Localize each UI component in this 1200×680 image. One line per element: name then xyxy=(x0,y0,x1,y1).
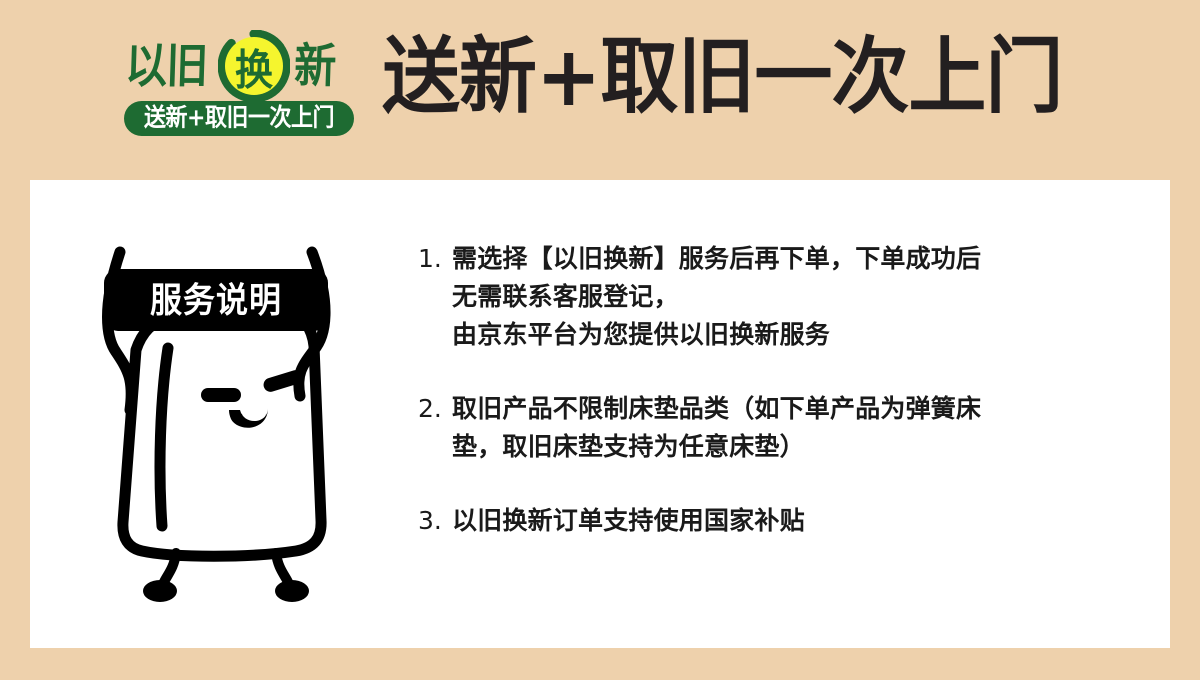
list-item-number: 3. xyxy=(418,502,452,540)
list-item-body: 需选择【以旧换新】服务后再下单，下单成功后 无需联系客服登记， 由京东平台为您提… xyxy=(452,240,1128,354)
illustration-area: 服务说明 xyxy=(90,220,370,620)
page-title: 送新+取旧一次上门 xyxy=(382,36,1062,119)
list-item-body: 取旧产品不限制床垫品类（如下单产品为弹簧床 垫，取旧床垫支持为任意床垫） xyxy=(452,390,1128,466)
logo-word-left: 以旧 xyxy=(125,43,208,90)
service-notes-list: 1. 需选择【以旧换新】服务后再下单，下单成功后 无需联系客服登记， 由京东平台… xyxy=(418,240,1128,540)
list-item-line: 需选择【以旧换新】服务后再下单，下单成功后 xyxy=(452,240,1128,278)
list-item-number: 2. xyxy=(418,390,452,428)
list-item-line: 垫，取旧床垫支持为任意床垫） xyxy=(452,428,1128,466)
logo-word-right: 新 xyxy=(294,43,336,90)
logo-subtitle-text: 送新+取旧一次上门 xyxy=(144,106,334,130)
page-header: 以旧 换 新 送新+取旧一次上门 送新+取旧一次上门 xyxy=(0,0,1200,180)
logo-subtitle-pill: 送新+取旧一次上门 xyxy=(124,101,354,136)
list-item: 3. 以旧换新订单支持使用国家补贴 xyxy=(418,502,1128,540)
list-item-number: 1. xyxy=(418,240,452,278)
list-item-line: 取旧产品不限制床垫品类（如下单产品为弹簧床 xyxy=(452,390,1128,428)
logo-word-center: 换 xyxy=(218,26,290,105)
list-item: 2. 取旧产品不限制床垫品类（如下单产品为弹簧床 垫，取旧床垫支持为任意床垫） xyxy=(418,390,1128,466)
trade-in-logo: 以旧 换 新 送新+取旧一次上门 xyxy=(122,30,362,138)
service-note-badge-label: 服务说明 xyxy=(150,283,282,318)
list-item-body: 以旧换新订单支持使用国家补贴 xyxy=(452,502,1128,540)
list-item-line: 由京东平台为您提供以旧换新服务 xyxy=(452,316,1128,354)
logo-recycle-badge: 换 xyxy=(218,30,290,102)
list-item: 1. 需选择【以旧换新】服务后再下单，下单成功后 无需联系客服登记， 由京东平台… xyxy=(418,240,1128,354)
service-note-badge: 服务说明 xyxy=(104,269,328,331)
character-face xyxy=(201,368,304,427)
list-item-line: 无需联系客服登记， xyxy=(452,278,1128,316)
content-card: 服务说明 1. 需选择【以旧换新】服务后再下单，下单成功后 无需联系客服登记， … xyxy=(30,180,1170,648)
list-item-line: 以旧换新订单支持使用国家补贴 xyxy=(452,502,1128,540)
logo-wordmark-row: 以旧 换 新 xyxy=(122,30,362,100)
